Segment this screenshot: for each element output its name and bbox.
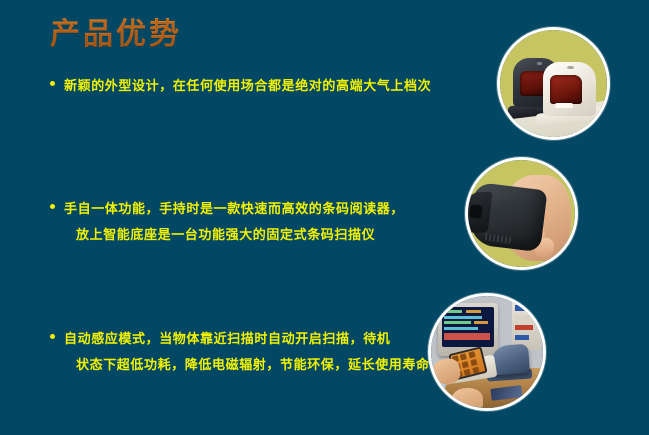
bullet-line: 状态下超低功耗，降低电磁辐射，节能环保，延长使用寿命 — [64, 353, 430, 379]
bullet-dot-icon — [50, 204, 55, 209]
keypad-key — [464, 368, 471, 375]
screen-row — [444, 310, 462, 313]
page-title: 产品优势 — [50, 9, 182, 53]
bullet-text-1: 新颖的外型设计，在任何使用场合都是绝对的高端大气上档次 — [64, 74, 431, 100]
operator-hand — [451, 388, 482, 408]
product-advantages-slide: 产品优势 新颖的外型设计，在任何使用场合都是绝对的高端大气上档次 手自一体功能，… — [0, 0, 649, 435]
product-photo-pos-counter — [428, 293, 546, 411]
product-photo-desktop-scanners — [497, 27, 610, 140]
photo-inner — [431, 296, 543, 408]
bullet-line: 自动感应模式，当物体靠近扫描时自动开启扫描，待机 — [64, 327, 430, 353]
white-scanner-illustration — [543, 62, 597, 116]
bullet-line: 新颖的外型设计，在任何使用场合都是绝对的高端大气上档次 — [64, 74, 431, 100]
scanner-window — [550, 75, 582, 104]
bullet-item-3: 自动感应模式，当物体靠近扫描时自动开启扫描，待机 状态下超低功耗，降低电磁辐射，… — [50, 327, 430, 379]
keypad-key — [469, 350, 476, 357]
handheld-scanner-window — [469, 204, 482, 218]
shelf-display — [512, 300, 541, 349]
bullet-text-3: 自动感应模式，当物体靠近扫描时自动开启扫描，待机 状态下超低功耗，降低电磁辐射，… — [64, 327, 430, 379]
screen-row — [444, 321, 471, 324]
bullet-item-1: 新颖的外型设计，在任何使用场合都是绝对的高端大气上档次 — [50, 74, 431, 100]
screen-row — [474, 321, 488, 324]
photo-inner — [500, 30, 607, 137]
product-photo-handheld-scanner — [465, 157, 578, 270]
scanner-led-icon — [537, 62, 542, 65]
keypad-key — [473, 366, 480, 373]
shelf-tag — [515, 315, 531, 320]
bullet-line: 手自一体功能，手持时是一款快速而高效的条码阅读器， — [64, 197, 404, 223]
keypad-key — [471, 358, 478, 365]
screen-row — [444, 316, 482, 319]
screen-row — [444, 327, 478, 330]
scanner-led-icon — [567, 66, 573, 69]
screen-row — [444, 333, 490, 339]
bullet-line: 放上智能底座是一台功能强大的固定式条码扫描仪 — [64, 223, 404, 249]
keypad-key — [460, 353, 467, 360]
photo-inner — [468, 160, 575, 267]
bullet-item-2: 手自一体功能，手持时是一款快速而高效的条码阅读器， 放上智能底座是一台功能强大的… — [50, 197, 404, 249]
shelf-tag — [515, 325, 533, 330]
keypad-key — [462, 360, 469, 367]
pos-screen — [442, 307, 494, 347]
screen-row — [466, 310, 482, 313]
bullet-dot-icon — [50, 81, 55, 86]
shelf-tag — [515, 335, 529, 340]
bullet-dot-icon — [50, 334, 55, 339]
shelf-tag — [515, 305, 535, 311]
scanner-tab — [555, 103, 573, 108]
bullet-text-2: 手自一体功能，手持时是一款快速而高效的条码阅读器， 放上智能底座是一台功能强大的… — [64, 197, 404, 249]
